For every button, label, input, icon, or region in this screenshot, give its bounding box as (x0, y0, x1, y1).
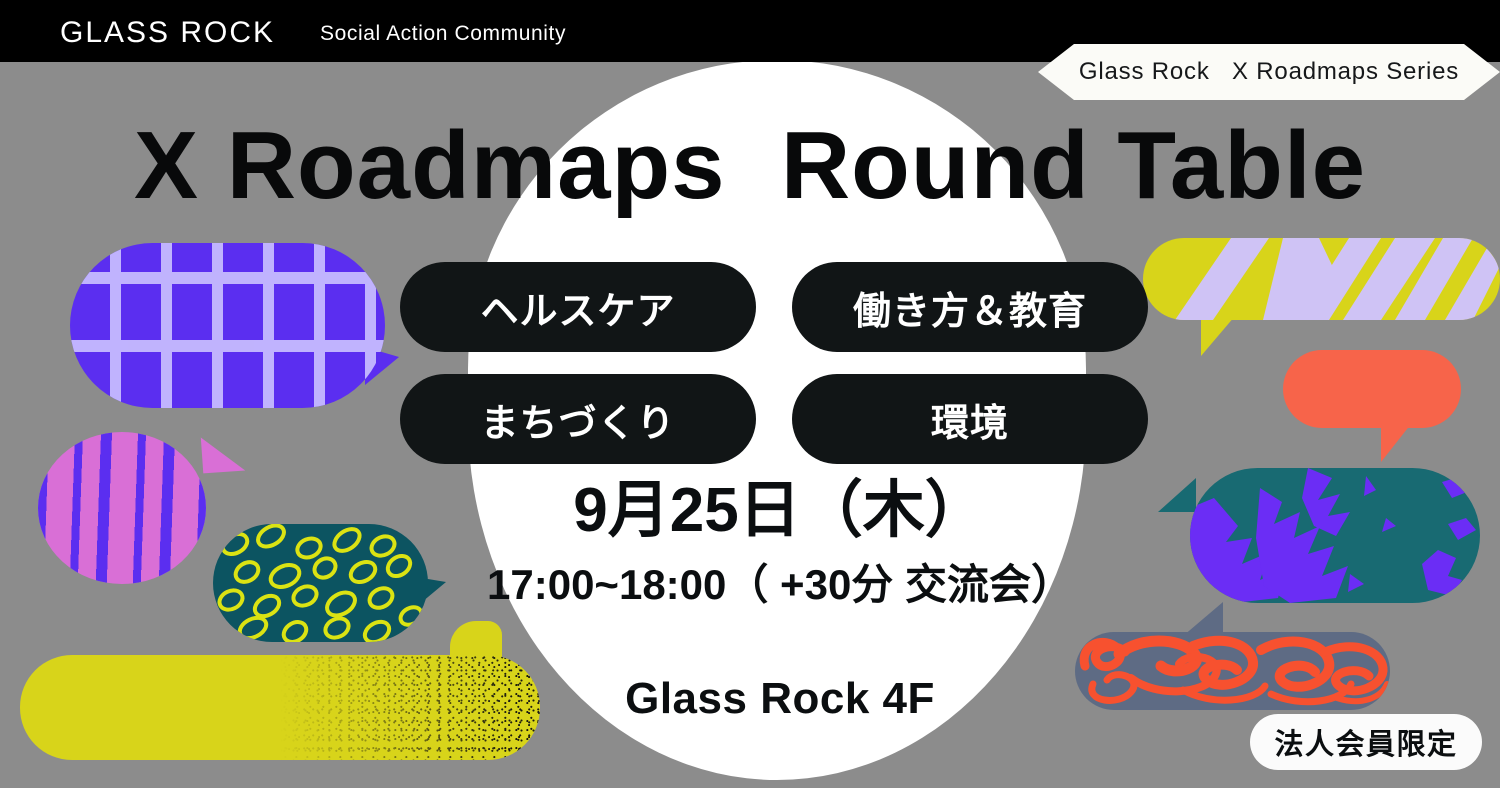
page-title: X Roadmaps Round Table (0, 118, 1500, 214)
orchid-stripes-bubble-body (38, 432, 206, 584)
yellow-zigzag-bubble (1143, 238, 1500, 320)
purple-grid-bubble (70, 243, 385, 408)
slate-swirl-bubble (1075, 632, 1390, 710)
orchid-stripes-bubble-tail (201, 435, 245, 474)
brand-tagline: Social Action Community (320, 22, 566, 46)
teal-splatter-bubble (1190, 468, 1480, 603)
orchid-stripes-bubble (38, 432, 206, 584)
teal-scribble-bubble (213, 524, 428, 642)
grid-pattern (70, 243, 385, 408)
teal-splatter-bubble-body (1190, 468, 1480, 603)
topic-pill-healthcare[interactable]: ヘルスケア (400, 262, 756, 352)
series-ribbon-label: Glass Rock X Roadmaps Series (1079, 58, 1459, 86)
brand-wordmark: GLASS ROCK (60, 16, 275, 50)
topic-pill-environment[interactable]: 環境 (792, 374, 1148, 464)
yellow-zigzag-bubble-tail (1201, 316, 1235, 356)
topic-pill-grid: ヘルスケア 働き方＆教育 まちづくり 環境 (400, 262, 1148, 464)
teal-scribble-bubble-body (213, 524, 428, 642)
event-date: 9月25日（木） (440, 478, 1120, 545)
event-details: 9月25日（木） 17:00~18:00（ +30分 交流会） Glass Ro… (440, 478, 1120, 724)
coral-swirls-pattern (1075, 632, 1390, 710)
yellow-zigzag-bubble-body (1143, 238, 1500, 320)
lavender-zigzag-pattern (1143, 238, 1500, 320)
yellow-scribbles-pattern (213, 524, 428, 642)
coral-plain-bubble-tail (1381, 424, 1411, 462)
topic-pill-town-planning[interactable]: まちづくり (400, 374, 756, 464)
topic-pill-work-education[interactable]: 働き方＆教育 (792, 262, 1148, 352)
series-ribbon: Glass Rock X Roadmaps Series (1038, 44, 1500, 100)
slate-swirl-bubble-tail (1183, 602, 1223, 636)
members-only-badge: 法人会員限定 (1250, 714, 1482, 770)
purple-grid-bubble-body (70, 243, 385, 408)
vertical-stripes-pattern (38, 432, 206, 584)
event-venue: Glass Rock 4F (440, 674, 1120, 724)
event-time: 17:00~18:00（ +30分 交流会） (440, 551, 1120, 612)
members-only-badge-label: 法人会員限定 (1274, 721, 1457, 763)
event-poster: X Roadmaps Round Table ヘルスケア 働き方＆教育 まちづく… (0, 0, 1500, 788)
coral-plain-bubble-body (1283, 350, 1461, 428)
slate-swirl-bubble-body (1075, 632, 1390, 710)
purple-splatter-pattern (1190, 468, 1480, 603)
coral-plain-bubble (1283, 350, 1461, 428)
